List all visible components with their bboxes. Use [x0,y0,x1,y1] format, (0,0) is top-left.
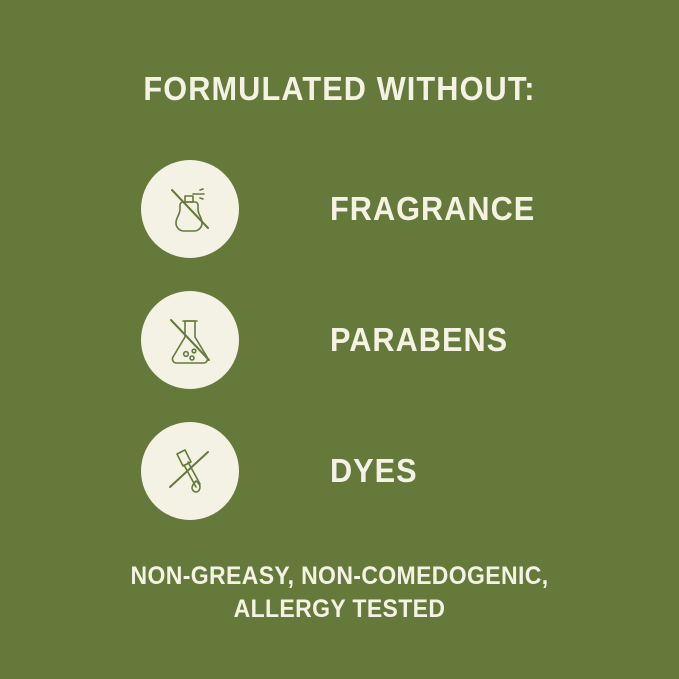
badge-fragrance [141,160,239,258]
list-item-label: PARABENS [330,321,508,359]
footer-claims: NON-GREASY, NON-COMEDOGENIC, ALLERGY TES… [0,560,679,626]
list-item-label: FRAGRANCE [330,190,535,228]
list-item: PARABENS [141,274,601,405]
footer-line-2: ALLERGY TESTED [27,593,652,626]
badge-dyes [141,422,239,520]
page-title: FORMULATED WITHOUT: [24,70,655,108]
claims-list: FRAGRANCE PARABENS [141,143,601,536]
no-parabens-flask-icon [159,309,221,371]
list-item-label: DYES [330,452,418,490]
footer-line-1: NON-GREASY, NON-COMEDOGENIC, [27,560,652,593]
no-dyes-dropper-icon [159,440,221,502]
no-fragrance-spray-bottle-icon [159,178,221,240]
formulated-without-panel: FORMULATED WITHOUT: FRAGRANCE [0,0,679,679]
list-item: FRAGRANCE [141,143,601,274]
badge-parabens [141,291,239,389]
list-item: DYES [141,405,601,536]
